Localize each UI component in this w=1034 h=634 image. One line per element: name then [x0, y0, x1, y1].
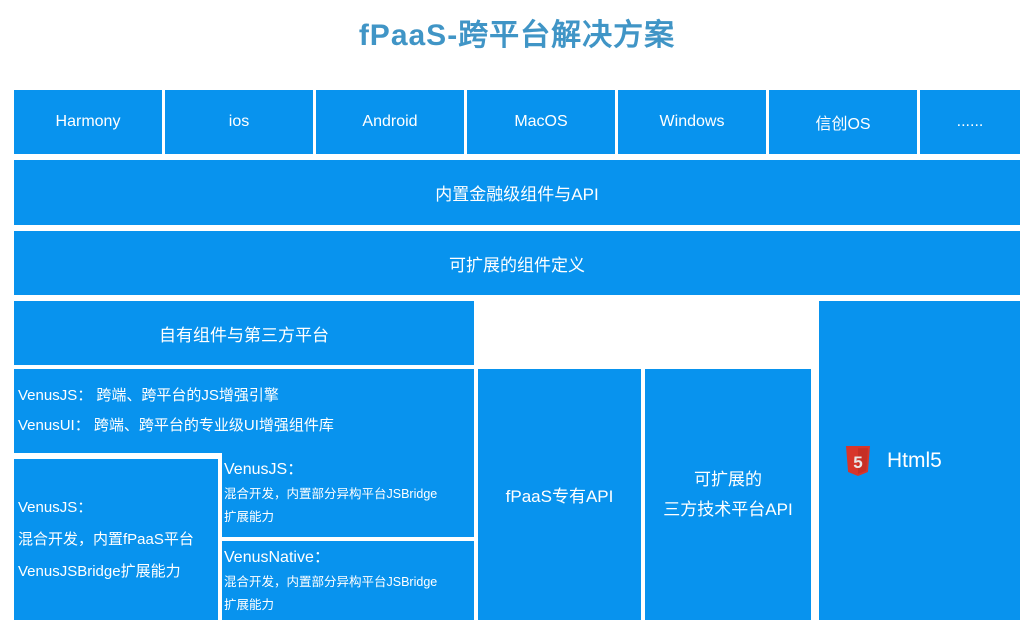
html5-logo-digit: 5	[853, 453, 862, 472]
html5-panel-inner: 5 Html5	[845, 446, 942, 476]
band-builtin-financial-components: 内置金融级组件与API	[14, 160, 1020, 225]
platform-label: 信创OS	[815, 110, 870, 134]
fpaas-proprietary-api-column: fPaaS专有API	[478, 369, 641, 620]
venusjs-heading: VenusJS：	[224, 457, 303, 483]
page-title: fPaaS-跨平台解决方案	[0, 16, 1034, 56]
platform-cell-android: Android	[316, 90, 464, 154]
venusnative-detail-2: 扩展能力	[224, 594, 274, 617]
venus-list-item: VenusJS： 跨端、跨平台的JS增强引擎	[18, 381, 279, 411]
third-party-api-column: 可扩展的 三方技术平台API	[645, 369, 811, 620]
band-label: 内置金融级组件与API	[435, 180, 598, 205]
venusjs-detail-1: 混合开发，内置部分异构平台JSBridge	[224, 483, 437, 506]
platform-cell-windows: Windows	[618, 90, 766, 154]
venusjs-heterogeneous-box: VenusJS： 混合开发，内置部分异构平台JSBridge 扩展能力	[222, 453, 474, 537]
platform-cell-macos: MacOS	[467, 90, 615, 154]
venusjs-hybrid-box: VenusJS： 混合开发，内置fPaaS平台 VenusJSBridge扩展能…	[14, 459, 218, 620]
venusjs-detail-2: VenusJSBridge扩展能力	[18, 556, 181, 588]
third-party-api-line-2: 三方技术平台API	[663, 495, 792, 525]
platform-label: Harmony	[56, 113, 121, 131]
platform-label: Android	[362, 113, 417, 131]
venusnative-detail-1: 混合开发，内置部分异构平台JSBridge	[224, 571, 437, 594]
html5-shield-icon: 5	[845, 446, 871, 476]
band-own-components-third-party: 自有组件与第三方平台	[14, 301, 474, 365]
platform-cell-ios: ios	[165, 90, 313, 154]
platform-cell-harmony: Harmony	[14, 90, 162, 154]
third-party-api-line-1: 可扩展的	[694, 465, 762, 495]
venus-engine-list: VenusJS： 跨端、跨平台的JS增强引擎 VenusUI： 跨端、跨平台的专…	[14, 369, 474, 453]
own-components-label: 自有组件与第三方平台	[159, 321, 329, 346]
band-extensible-component-definition: 可扩展的组件定义	[14, 231, 1020, 295]
venusjs-detail-1: 混合开发，内置fPaaS平台	[18, 524, 194, 556]
fpaas-api-label: fPaaS专有API	[506, 482, 614, 507]
platform-label: MacOS	[514, 113, 567, 131]
platform-label: ios	[229, 113, 249, 131]
venus-list-item: VenusUI： 跨端、跨平台的专业级UI增强组件库	[18, 411, 334, 441]
venusjs-detail-2: 扩展能力	[224, 506, 274, 529]
venusjs-heading: VenusJS：	[18, 492, 92, 524]
fpaas-architecture-diagram: fPaaS-跨平台解决方案 Harmony ios Android MacOS …	[0, 0, 1034, 634]
platform-label: Windows	[660, 113, 725, 131]
platform-cell-more: ......	[920, 90, 1020, 154]
platform-cell-xinchuang-os: 信创OS	[769, 90, 917, 154]
venusnative-heterogeneous-box: VenusNative： 混合开发，内置部分异构平台JSBridge 扩展能力	[222, 541, 474, 620]
html5-panel: 5 Html5	[819, 301, 1020, 620]
band-label: 可扩展的组件定义	[449, 251, 585, 276]
venusnative-heading: VenusNative：	[224, 545, 330, 571]
platform-label: ......	[957, 113, 984, 131]
html5-label: Html5	[887, 449, 942, 473]
